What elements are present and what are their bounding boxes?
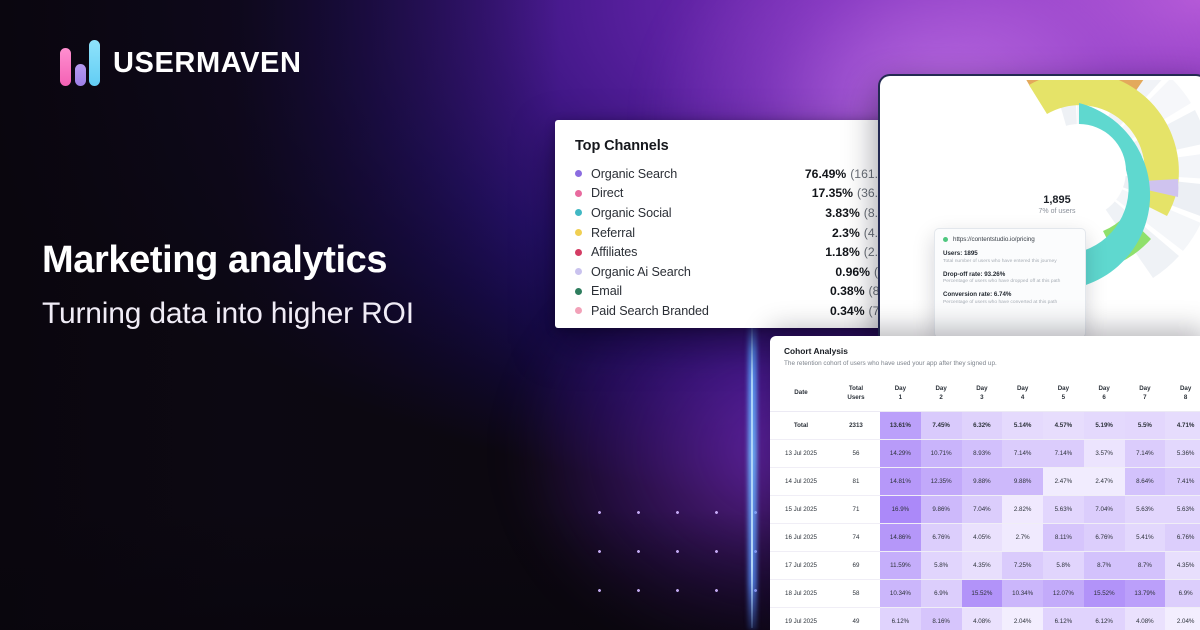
channel-percent: 3.83% (825, 206, 860, 220)
cohort-column-header: Day2 (921, 377, 962, 411)
cohort-retention-cell: 14.81% (880, 467, 921, 495)
cohort-retention-cell: 5.19% (1084, 411, 1125, 439)
cohort-retention-cell: 5.63% (1165, 495, 1200, 523)
blue-accent-line (751, 318, 753, 628)
cohort-date-cell: 17 Jul 2025 (770, 551, 832, 579)
cohort-date-cell: Total (770, 411, 832, 439)
channel-color-dot (575, 268, 582, 275)
tooltip-metric: Drop-off rate: 93.26%Percentage of users… (943, 271, 1077, 286)
cohort-total-users-cell: 2313 (832, 411, 880, 439)
top-channels-title: Top Channels (575, 138, 897, 154)
cohort-table-body: Total231313.61%7.45%6.32%5.14%4.57%5.19%… (770, 411, 1200, 630)
cohort-total-users-cell: 74 (832, 523, 880, 551)
cohort-retention-cell: 15.52% (962, 579, 1003, 607)
sunburst-center-percent: 7% of users (1015, 208, 1099, 215)
cohort-retention-cell: 7.14% (1125, 439, 1166, 467)
cohort-title: Cohort Analysis (770, 346, 1200, 360)
channel-percent: 2.3% (832, 226, 860, 240)
cohort-retention-cell: 8.93% (962, 439, 1003, 467)
cohort-retention-cell: 15.52% (1084, 579, 1125, 607)
cohort-retention-cell: 10.71% (921, 439, 962, 467)
cohort-retention-cell: 7.04% (1084, 495, 1125, 523)
tooltip-metric: Conversion rate: 6.74%Percentage of user… (943, 291, 1077, 306)
channel-name: Organic Social (591, 206, 825, 220)
cohort-retention-cell: 2.04% (1165, 607, 1200, 630)
cohort-retention-cell: 8.7% (1084, 551, 1125, 579)
cohort-retention-cell: 8.11% (1043, 523, 1084, 551)
tooltip-metric-label: Drop-off rate: 93.26% (943, 271, 1077, 278)
cohort-column-header: TotalUsers (832, 377, 880, 411)
channel-row[interactable]: Organic Search76.49%(161.5K) (575, 164, 897, 184)
cohort-retention-cell: 6.12% (1043, 607, 1084, 630)
channel-name: Referral (591, 226, 832, 240)
table-row[interactable]: 15 Jul 20257116.9%9.86%7.04%2.82%5.63%7.… (770, 495, 1200, 523)
cohort-retention-cell: 5.14% (1002, 411, 1043, 439)
cohort-total-users-cell: 71 (832, 495, 880, 523)
channel-name: Email (591, 284, 830, 298)
cohort-retention-cell: 11.59% (880, 551, 921, 579)
channel-name: Affiliates (591, 245, 825, 259)
channel-name: Direct (591, 186, 812, 200)
cohort-retention-cell: 5.8% (1043, 551, 1084, 579)
cohort-column-header: Day7 (1125, 377, 1166, 411)
cohort-date-cell: 14 Jul 2025 (770, 467, 832, 495)
cohort-retention-cell: 7.25% (1002, 551, 1043, 579)
cohort-date-cell: 15 Jul 2025 (770, 495, 832, 523)
cohort-retention-cell: 14.86% (880, 523, 921, 551)
cohort-retention-cell: 4.57% (1043, 411, 1084, 439)
channel-name: Paid Search Branded (591, 304, 830, 318)
cohort-column-header: Day6 (1084, 377, 1125, 411)
channel-name: Organic Ai Search (591, 265, 835, 279)
table-row[interactable]: 17 Jul 20256911.59%5.8%4.35%7.25%5.8%8.7… (770, 551, 1200, 579)
cohort-retention-cell: 12.07% (1043, 579, 1084, 607)
channel-color-dot (575, 288, 582, 295)
cohort-retention-cell: 6.12% (1084, 607, 1125, 630)
cohort-column-header: Day8 (1165, 377, 1200, 411)
cohort-retention-cell: 7.45% (921, 411, 962, 439)
top-channels-list: Organic Search76.49%(161.5K)Direct17.35%… (575, 164, 897, 321)
cohort-retention-cell: 4.71% (1165, 411, 1200, 439)
cohort-retention-cell: 16.9% (880, 495, 921, 523)
table-row[interactable]: Total231313.61%7.45%6.32%5.14%4.57%5.19%… (770, 411, 1200, 439)
cohort-total-users-cell: 49 (832, 607, 880, 630)
channel-color-dot (575, 307, 582, 314)
tooltip-metrics: Users: 1895Total number of users who hav… (943, 250, 1077, 306)
cohort-retention-cell: 2.47% (1043, 467, 1084, 495)
cohort-retention-cell: 6.32% (962, 411, 1003, 439)
cohort-retention-cell: 5.8% (921, 551, 962, 579)
cohort-column-header: Day5 (1043, 377, 1084, 411)
cohort-retention-cell: 2.47% (1084, 467, 1125, 495)
channel-row[interactable]: Paid Search Branded0.34%(713) (575, 301, 897, 321)
status-dot-icon (943, 237, 948, 242)
channel-color-dot (575, 209, 582, 216)
cohort-retention-cell: 7.04% (962, 495, 1003, 523)
cohort-column-header: Day3 (962, 377, 1003, 411)
channel-color-dot (575, 249, 582, 256)
cohort-retention-cell: 8.64% (1125, 467, 1166, 495)
tooltip-metric-description: Total number of users who have entered t… (943, 259, 1077, 265)
brand-name: USERMAVEN (113, 47, 302, 80)
cohort-retention-cell: 12.35% (921, 467, 962, 495)
cohort-retention-cell: 14.29% (880, 439, 921, 467)
table-row[interactable]: 19 Jul 2025496.12%8.16%4.08%2.04%6.12%6.… (770, 607, 1200, 630)
channel-color-dot (575, 170, 582, 177)
cohort-retention-cell: 4.08% (962, 607, 1003, 630)
cohort-retention-cell: 9.88% (962, 467, 1003, 495)
channel-row[interactable]: Email0.38%(804) (575, 282, 897, 302)
channel-percent: 76.49% (805, 167, 846, 181)
cohort-retention-cell: 6.76% (1084, 523, 1125, 551)
cohort-date-cell: 19 Jul 2025 (770, 607, 832, 630)
cohort-retention-cell: 5.36% (1165, 439, 1200, 467)
channel-row[interactable]: Organic Social3.83%(8.1K) (575, 203, 897, 223)
sunburst-center-value: 1,895 (1015, 194, 1099, 206)
channel-percent: 0.34% (830, 304, 865, 318)
cohort-table: DateTotalUsersDay1Day2Day3Day4Day5Day6Da… (770, 377, 1200, 630)
page-subtitle: Turning data into higher ROI (42, 297, 562, 331)
channel-percent: 17.35% (812, 186, 853, 200)
cohort-retention-cell: 7.41% (1165, 467, 1200, 495)
tooltip-header: https://contentstudio.io/pricing (943, 236, 1077, 243)
headline-block: Marketing analytics Turning data into hi… (42, 240, 562, 331)
cohort-subtitle: The retention cohort of users who have u… (770, 360, 1200, 377)
cohort-date-cell: 18 Jul 2025 (770, 579, 832, 607)
tooltip-url: https://contentstudio.io/pricing (953, 236, 1035, 243)
top-channels-card: Top Channels Organic Search76.49%(161.5K… (555, 120, 917, 328)
cohort-retention-cell: 8.16% (921, 607, 962, 630)
cohort-column-header: Day1 (880, 377, 921, 411)
channel-name: Organic Search (591, 167, 805, 181)
cohort-retention-cell: 7.14% (1043, 439, 1084, 467)
cohort-retention-cell: 6.12% (880, 607, 921, 630)
channel-row[interactable]: Direct17.35%(36.6K) (575, 184, 897, 204)
table-row[interactable]: 18 Jul 20255810.34%6.9%15.52%10.34%12.07… (770, 579, 1200, 607)
page-title: Marketing analytics (42, 240, 562, 281)
tooltip-metric-description: Percentage of users who have converted a… (943, 300, 1077, 306)
cohort-retention-cell: 3.57% (1084, 439, 1125, 467)
cohort-total-users-cell: 81 (832, 467, 880, 495)
channel-color-dot (575, 190, 582, 197)
cohort-total-users-cell: 56 (832, 439, 880, 467)
cohort-retention-cell: 4.35% (962, 551, 1003, 579)
channel-row[interactable]: Organic Ai Search0.96%(2K) (575, 262, 897, 282)
cohort-date-cell: 16 Jul 2025 (770, 523, 832, 551)
cohort-retention-cell: 6.9% (921, 579, 962, 607)
cohort-retention-cell: 8.7% (1125, 551, 1166, 579)
channel-row[interactable]: Affiliates1.18%(2.5K) (575, 242, 897, 262)
cohort-retention-cell: 6.9% (1165, 579, 1200, 607)
cohort-column-header: Date (770, 377, 832, 411)
journey-path-tooltip: https://contentstudio.io/pricing Users: … (934, 228, 1086, 338)
decorative-dot-grid (577, 490, 759, 620)
cohort-retention-cell: 6.76% (1165, 523, 1200, 551)
cohort-retention-cell: 2.7% (1002, 523, 1043, 551)
cohort-header-row: DateTotalUsersDay1Day2Day3Day4Day5Day6Da… (770, 377, 1200, 411)
cohort-retention-cell: 13.79% (1125, 579, 1166, 607)
cohort-retention-cell: 4.08% (1125, 607, 1166, 630)
cohort-retention-cell: 5.5% (1125, 411, 1166, 439)
cohort-retention-cell: 5.41% (1125, 523, 1166, 551)
channel-percent: 1.18% (825, 245, 860, 259)
tooltip-metric-label: Conversion rate: 6.74% (943, 291, 1077, 298)
cohort-retention-cell: 9.86% (921, 495, 962, 523)
cohort-column-header: Day4 (1002, 377, 1043, 411)
cohort-total-users-cell: 69 (832, 551, 880, 579)
channel-percent: 0.38% (830, 284, 865, 298)
channel-percent: 0.96% (835, 265, 870, 279)
cohort-retention-cell: 5.63% (1125, 495, 1166, 523)
cohort-retention-cell: 13.61% (880, 411, 921, 439)
cohort-retention-cell: 9.88% (1002, 467, 1043, 495)
cohort-retention-cell: 2.04% (1002, 607, 1043, 630)
channel-row[interactable]: Referral2.3%(4.9K) (575, 223, 897, 243)
cohort-analysis-panel: Cohort Analysis The retention cohort of … (770, 336, 1200, 630)
tooltip-metric: Users: 1895Total number of users who hav… (943, 250, 1077, 265)
cohort-retention-cell: 7.14% (1002, 439, 1043, 467)
tooltip-metric-description: Percentage of users who have dropped off… (943, 279, 1077, 285)
cohort-total-users-cell: 58 (832, 579, 880, 607)
cohort-retention-cell: 10.34% (880, 579, 921, 607)
cohort-retention-cell: 10.34% (1002, 579, 1043, 607)
bar-chart-logo-icon (60, 40, 100, 86)
brand-logo: USERMAVEN (60, 40, 302, 86)
cohort-retention-cell: 6.76% (921, 523, 962, 551)
cohort-retention-cell: 4.05% (962, 523, 1003, 551)
channel-color-dot (575, 229, 582, 236)
cohort-retention-cell: 5.63% (1043, 495, 1084, 523)
cohort-retention-cell: 4.35% (1165, 551, 1200, 579)
cohort-table-head: DateTotalUsersDay1Day2Day3Day4Day5Day6Da… (770, 377, 1200, 411)
table-row[interactable]: 16 Jul 20257414.86%6.76%4.05%2.7%8.11%6.… (770, 523, 1200, 551)
cohort-date-cell: 13 Jul 2025 (770, 439, 832, 467)
table-row[interactable]: 13 Jul 20255614.29%10.71%8.93%7.14%7.14%… (770, 439, 1200, 467)
cohort-retention-cell: 2.82% (1002, 495, 1043, 523)
tooltip-metric-label: Users: 1895 (943, 250, 1077, 257)
table-row[interactable]: 14 Jul 20258114.81%12.35%9.88%9.88%2.47%… (770, 467, 1200, 495)
